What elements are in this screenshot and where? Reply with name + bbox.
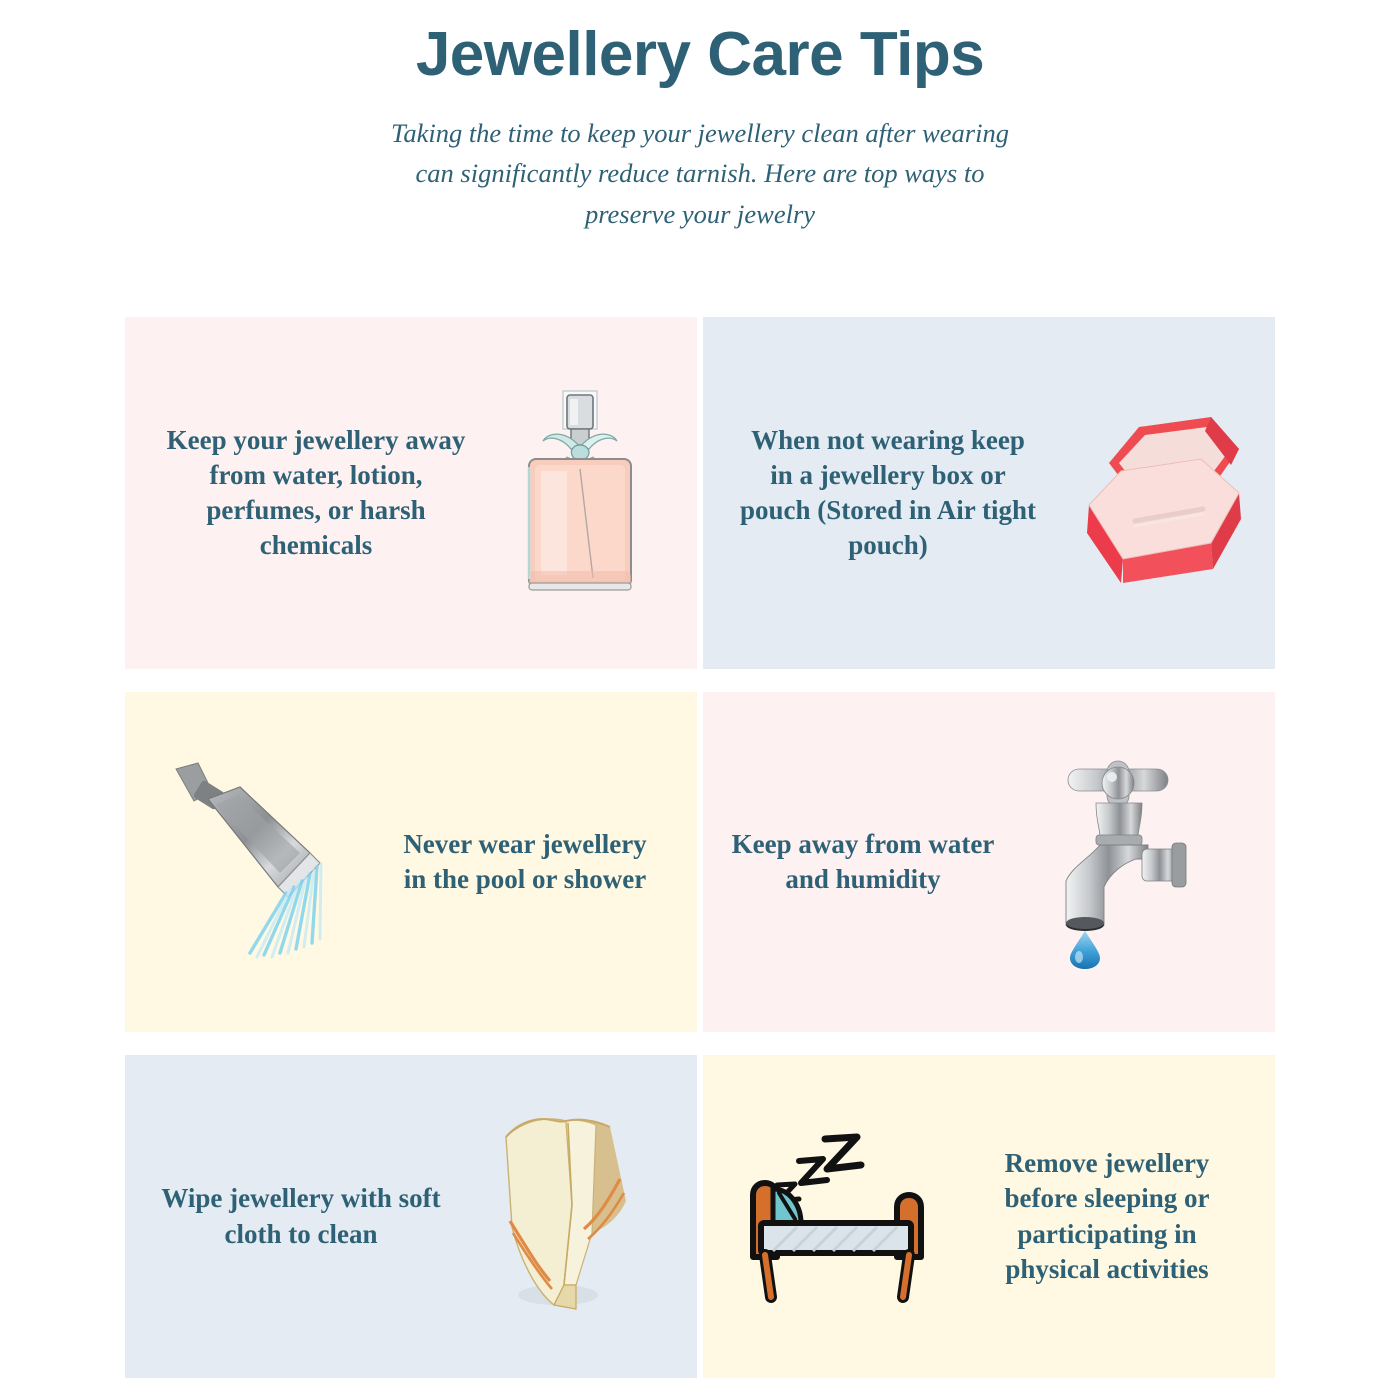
- faucet-svg: [1038, 755, 1203, 970]
- tip-text: Never wear jewellery in the pool or show…: [383, 827, 667, 897]
- faucet-dripping-icon: [1013, 692, 1228, 1032]
- tip-card-keep-away-from-chemicals[interactable]: Keep your jewellery away from water, lot…: [125, 317, 697, 669]
- perfume-bottle-icon: [485, 317, 675, 669]
- tip-text: Wipe jewellery with soft cloth to clean: [145, 1181, 457, 1251]
- tip-card-keep-away-from-water[interactable]: Keep away from water and humidity: [703, 692, 1275, 1032]
- infographic-page: Jewellery Care Tips Taking the time to k…: [0, 0, 1400, 1400]
- tip-card-remove-before-sleeping[interactable]: Remove jewellery before sleeping or part…: [703, 1055, 1275, 1378]
- tip-text: When not wearing keep in a jewellery box…: [723, 423, 1053, 563]
- ring-box-icon: [1053, 317, 1268, 669]
- page-subtitle: Taking the time to keep your jewellery c…: [385, 113, 1015, 234]
- header: Jewellery Care Tips Taking the time to k…: [0, 0, 1400, 234]
- tip-text: Keep away from water and humidity: [713, 827, 1013, 897]
- shower-head-svg: [168, 757, 368, 967]
- tips-grid: Keep your jewellery away from water, lot…: [125, 317, 1275, 1378]
- perfume-bottle-svg: [505, 373, 655, 613]
- bed-sleeping-icon: [731, 1055, 961, 1378]
- ring-box-svg: [1061, 393, 1261, 593]
- tip-text: Remove jewellery before sleeping or part…: [961, 1146, 1253, 1286]
- soft-cloth-svg: [480, 1109, 640, 1324]
- page-title: Jewellery Care Tips: [0, 22, 1400, 87]
- tip-card-no-pool-or-shower[interactable]: Never wear jewellery in the pool or show…: [125, 692, 697, 1032]
- tip-card-wipe-with-soft-cloth[interactable]: Wipe jewellery with soft cloth to clean: [125, 1055, 697, 1378]
- shower-head-icon: [153, 692, 383, 1032]
- tip-text: Keep your jewellery away from water, lot…: [147, 423, 485, 563]
- tip-card-store-in-box[interactable]: When not wearing keep in a jewellery box…: [703, 317, 1275, 669]
- soft-cloth-icon: [457, 1055, 662, 1378]
- bed-svg: [739, 1127, 954, 1307]
